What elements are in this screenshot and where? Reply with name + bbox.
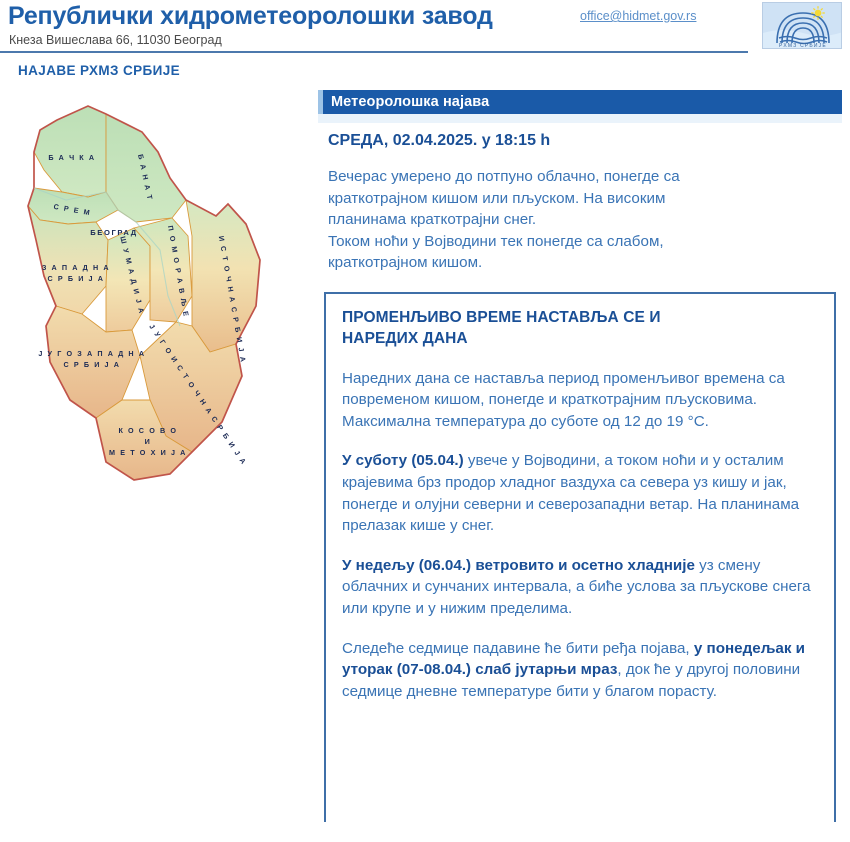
serbia-map-graphic[interactable]: Б А Ч К А Б А Н А Т С Р Е М БЕОГРАД З А … <box>10 100 310 490</box>
outlook-heading-line2: НАРЕДИХ ДАНА <box>342 330 468 347</box>
outlook-para-1: Наредних дана се наставља период променљ… <box>342 368 818 433</box>
map-label-beograd: БЕОГРАД <box>90 228 138 237</box>
outlook-heading-line1: ПРОМЕНЉИВО ВРЕМЕ НАСТАВЉА СЕ И <box>342 309 661 326</box>
outlook-heading: ПРОМЕНЉИВО ВРЕМЕ НАСТАВЉА СЕ И НАРЕДИХ Д… <box>342 308 818 350</box>
intro-line-5: краткотрајном кишом. <box>328 252 842 274</box>
serbia-map[interactable]: Б А Ч К А Б А Н А Т С Р Е М БЕОГРАД З А … <box>10 100 310 490</box>
map-label-zapadna-srbija-2: С Р Б И Ј А <box>47 274 104 283</box>
page-title: Републички хидрометеоролошки завод <box>8 2 493 31</box>
logo-graphic: РХМЗ СРБИЈЕ <box>763 3 842 49</box>
intro-line-1: Вечерас умерено до потпуно облачно, поне… <box>328 166 842 188</box>
outlook-para-1-text: Наредних дана се наставља период променљ… <box>342 370 785 409</box>
sunday-label: У недељу (06.04.) ветровито и осетно хла… <box>342 557 695 574</box>
forecast-header-bar: Метеоролошка најава <box>318 90 842 114</box>
forecast-datetime: СРЕДА, 02.04.2025. у 18:15 h <box>318 132 842 150</box>
outlook-para-sunday: У недељу (06.04.) ветровито и осетно хла… <box>342 555 818 620</box>
intro-line-3: планинама краткотрајни снег. <box>328 209 842 231</box>
header-underbar <box>318 114 842 123</box>
map-label-jugozapadna-srbija: Ј У Г О З А П А Д Н А <box>38 349 145 358</box>
map-label-kosovo: К О С О В О <box>118 426 177 435</box>
outlook-para-1-temp: Максимална температура до суботе од 12 д… <box>342 413 709 430</box>
region-backa <box>34 106 106 197</box>
outlook-para-nextweek: Следеће седмице падавине ће бити ређа по… <box>342 638 818 703</box>
saturday-label: У суботу (05.04.) <box>342 452 464 469</box>
map-label-zapadna-srbija: З А П А Д Н А <box>42 263 110 272</box>
region-istocna-srbija <box>186 200 260 352</box>
nextweek-text-a: Следеће седмице падавине ће бити ређа по… <box>342 640 694 657</box>
map-label-kosovo-2: И <box>145 437 152 446</box>
intro-line-4: Током ноћи у Војводини тек понегде са сл… <box>328 231 842 253</box>
forecast-header-title: Метеоролошка најава <box>331 94 489 110</box>
header-divider <box>0 51 748 53</box>
map-label-backa: Б А Ч К А <box>48 153 95 162</box>
page-root: Републички хидрометеоролошки завод Кнеза… <box>0 0 850 842</box>
institute-address: Кнеза Вишеслава 66, 11030 Београд <box>9 33 222 47</box>
contact-email-link[interactable]: office@hidmet.gov.rs <box>580 9 696 23</box>
map-label-metohija: М Е Т О Х И Ј А <box>109 448 187 457</box>
rhmz-logo: РХМЗ СРБИЈЕ <box>762 2 842 49</box>
outlook-para-saturday: У суботу (05.04.) увече у Војводини, а т… <box>342 450 818 536</box>
intro-line-2: краткотрајном кишом или пљуском. На висо… <box>328 188 842 210</box>
forecast-panel: Метеоролошка најава СРЕДА, 02.04.2025. у… <box>318 90 842 822</box>
logo-caption: РХМЗ СРБИЈЕ <box>779 43 827 49</box>
section-title: НАЈАВЕ РХМЗ СРБИЈЕ <box>18 63 180 78</box>
map-label-jugozapadna-srbija-2: С Р Б И Ј А <box>63 360 120 369</box>
forecast-intro: Вечерас умерено до потпуно облачно, поне… <box>318 166 842 274</box>
outlook-box: ПРОМЕНЉИВО ВРЕМЕ НАСТАВЉА СЕ И НАРЕДИХ Д… <box>324 292 836 822</box>
